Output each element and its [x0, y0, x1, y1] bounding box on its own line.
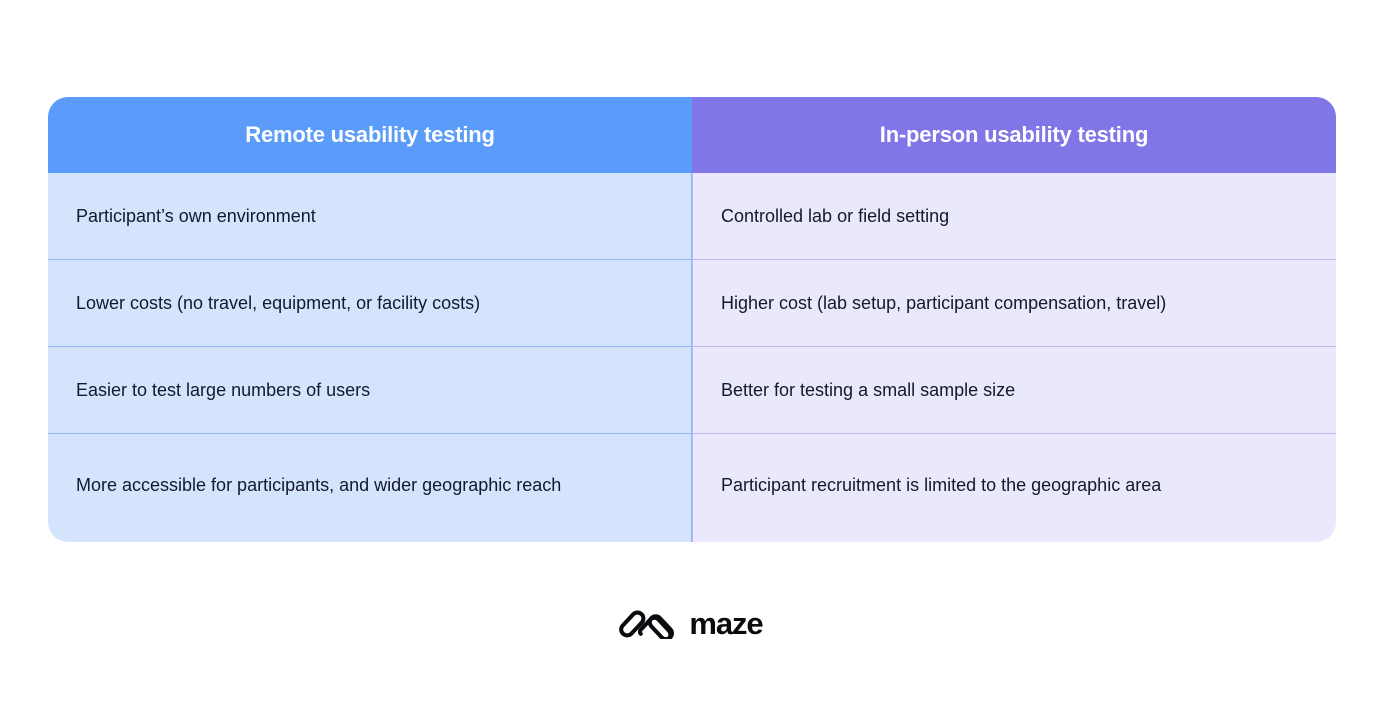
cell-text: Better for testing a small sample size [721, 376, 1281, 405]
maze-logo-icon [619, 609, 675, 639]
table-body: Participant’s own environment Controlled… [48, 173, 1336, 542]
cell-text: Participant recruitment is limited to th… [721, 471, 1281, 500]
cell-text: Higher cost (lab setup, participant comp… [721, 289, 1281, 318]
table-header: Remote usability testing In-person usabi… [48, 97, 1336, 173]
table-cell-remote: Easier to test large numbers of users [48, 347, 692, 434]
table-cell-in-person: Higher cost (lab setup, participant comp… [692, 260, 1336, 347]
cell-text: Easier to test large numbers of users [76, 376, 636, 405]
table-header-row: Remote usability testing In-person usabi… [48, 97, 1336, 173]
brand-wordmark: maze [689, 608, 762, 639]
table-row: Lower costs (no travel, equipment, or fa… [48, 260, 1336, 347]
table-cell-in-person: Controlled lab or field setting [692, 173, 1336, 260]
brand-logo: maze [0, 608, 1382, 639]
column-header-in-person: In-person usability testing [692, 97, 1336, 173]
table-cell-remote: Lower costs (no travel, equipment, or fa… [48, 260, 692, 347]
cell-text: More accessible for participants, and wi… [76, 471, 636, 500]
cell-text: Participant’s own environment [76, 202, 636, 231]
comparison-table: Remote usability testing In-person usabi… [48, 97, 1336, 542]
table-row: More accessible for participants, and wi… [48, 434, 1336, 542]
comparison-table-container: Remote usability testing In-person usabi… [48, 97, 1336, 542]
column-header-remote: Remote usability testing [48, 97, 692, 173]
cell-text: Controlled lab or field setting [721, 202, 1281, 231]
table-cell-in-person: Participant recruitment is limited to th… [692, 434, 1336, 542]
table-cell-in-person: Better for testing a small sample size [692, 347, 1336, 434]
page-root: Remote usability testing In-person usabi… [0, 0, 1382, 727]
table-cell-remote: Participant’s own environment [48, 173, 692, 260]
cell-text: Lower costs (no travel, equipment, or fa… [76, 289, 636, 318]
table-row: Easier to test large numbers of users Be… [48, 347, 1336, 434]
table-cell-remote: More accessible for participants, and wi… [48, 434, 692, 542]
table-row: Participant’s own environment Controlled… [48, 173, 1336, 260]
